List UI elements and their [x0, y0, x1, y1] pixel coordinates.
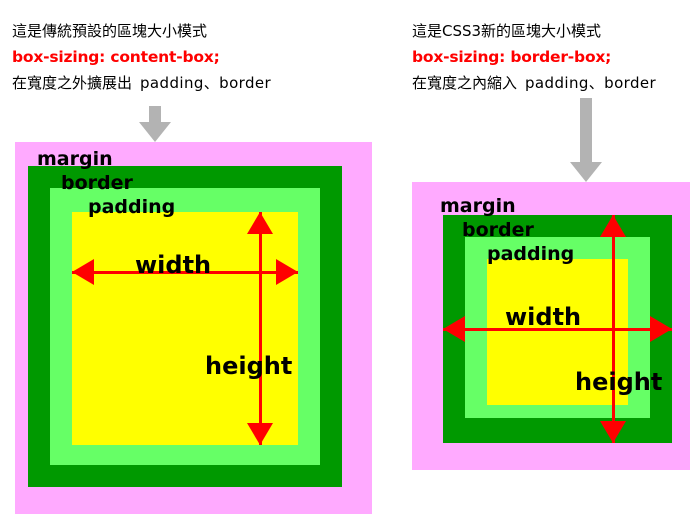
caption-line-1: 這是傳統預設的區塊大小模式: [12, 18, 412, 44]
caption-code-content-box: box-sizing: content-box;: [12, 44, 412, 70]
border-layer: [28, 166, 342, 487]
height-label: height: [205, 354, 292, 378]
measure-line: [259, 212, 262, 445]
caption-line-3-suffix: padding、border: [132, 74, 271, 92]
margin-label: margin: [37, 150, 113, 169]
arrowhead-up: [600, 215, 626, 237]
caption-line-3: 在寬度之內縮入padding、border: [412, 70, 700, 96]
border-box-panel: 這是CSS3新的區塊大小模式 box-sizing: border-box; 在…: [400, 0, 700, 514]
caption-line-3: 在寬度之外擴展出padding、border: [12, 70, 412, 96]
down-arrow-icon-left: [139, 106, 171, 142]
height-measure-arrow: [599, 215, 627, 443]
caption-code-border-box: box-sizing: border-box;: [412, 44, 700, 70]
arrowhead-left: [72, 259, 94, 285]
down-arrow-icon-right: [570, 98, 602, 182]
arrowhead-right: [276, 259, 298, 285]
measure-line: [612, 215, 615, 443]
margin-label: margin: [440, 197, 516, 216]
content-box-caption: 這是傳統預設的區塊大小模式 box-sizing: content-box; 在…: [12, 18, 412, 96]
border-box-caption: 這是CSS3新的區塊大小模式 box-sizing: border-box; 在…: [412, 18, 700, 96]
arrow-head: [570, 162, 602, 182]
content-box-panel: 這是傳統預設的區塊大小模式 box-sizing: content-box; 在…: [0, 0, 400, 514]
border-label: border: [61, 174, 133, 193]
width-label: width: [135, 253, 211, 277]
height-measure-arrow: [246, 212, 274, 445]
arrowhead-left: [443, 316, 465, 342]
padding-label: padding: [88, 198, 175, 217]
arrowhead-down: [600, 421, 626, 443]
content-box-diagram: margin border padding: [15, 142, 372, 514]
padding-layer: [50, 188, 320, 465]
caption-line-3-prefix: 在寬度之內縮入: [412, 74, 517, 92]
caption-line-1: 這是CSS3新的區塊大小模式: [412, 18, 700, 44]
border-label: border: [462, 221, 534, 240]
padding-label: padding: [487, 245, 574, 264]
caption-line-3-suffix: padding、border: [517, 74, 656, 92]
height-label: height: [575, 370, 662, 394]
caption-line-3-prefix: 在寬度之外擴展出: [12, 74, 132, 92]
arrow-head: [139, 122, 171, 142]
width-label: width: [505, 305, 581, 329]
arrowhead-up: [247, 212, 273, 234]
arrowhead-down: [247, 423, 273, 445]
arrowhead-right: [650, 316, 672, 342]
arrow-shaft: [580, 98, 592, 164]
